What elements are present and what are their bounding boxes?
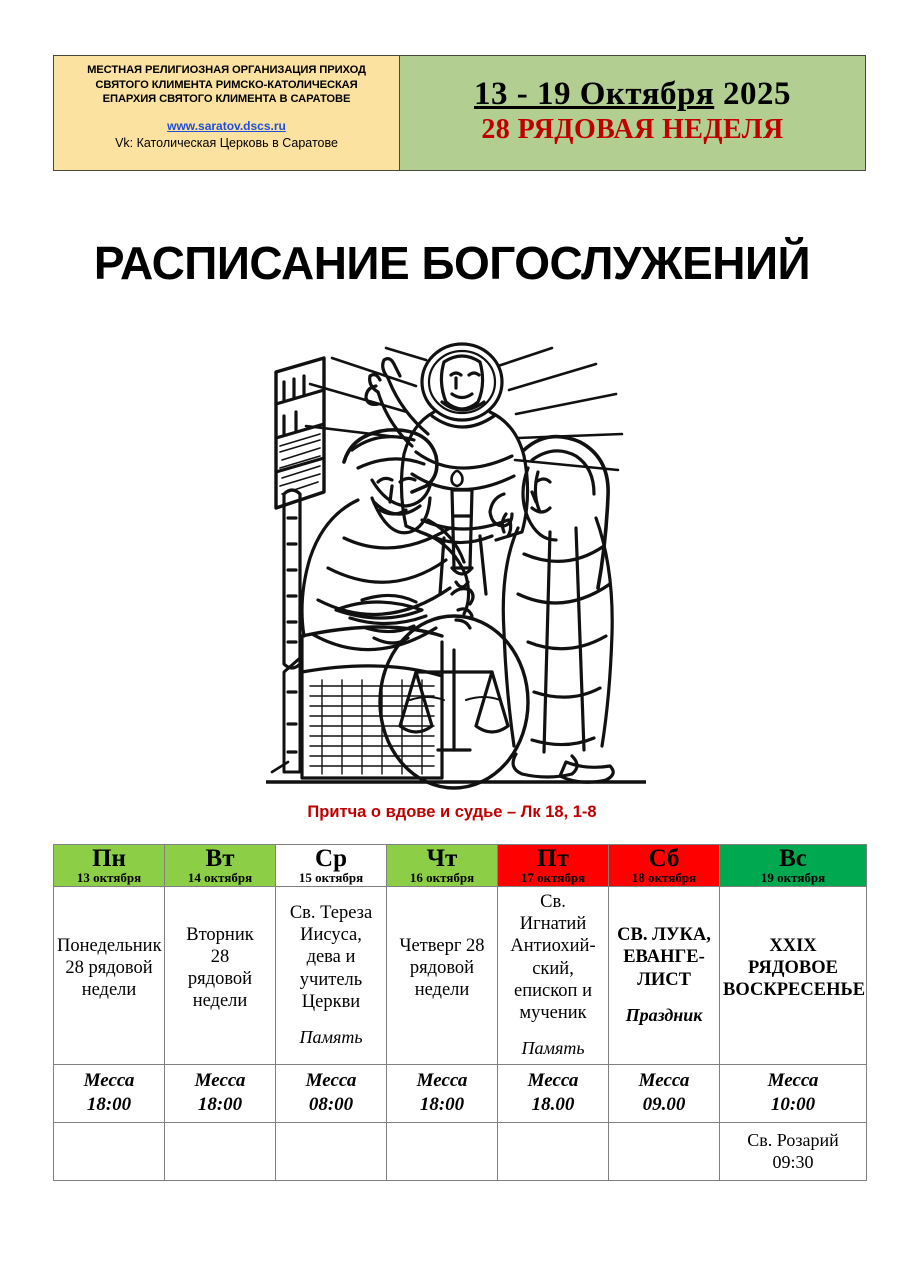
table-header-row: Пн 13 октября Вт 14 октября Ср 15 октябр… <box>54 845 867 887</box>
feast-rank: Память <box>279 1027 383 1049</box>
feast-cell-wednesday: Св. ТерезаИисуса,дева иучительЦеркви Пам… <box>276 886 387 1064</box>
extra-cell-tuesday <box>165 1122 276 1180</box>
extra-cell-thursday <box>387 1122 498 1180</box>
mass-time: 08:00 <box>279 1093 383 1117</box>
mass-time: 18:00 <box>57 1093 161 1117</box>
mass-cell-monday: Месса 18:00 <box>54 1064 165 1122</box>
extra-time: 09:30 <box>723 1151 863 1174</box>
mass-label: Месса <box>501 1069 605 1093</box>
mass-label: Месса <box>57 1069 161 1093</box>
organization-line-1: МЕСТНАЯ РЕЛИГИОЗНАЯ ОРГАНИЗАЦИЯ ПРИХОД <box>87 63 366 78</box>
feast-text: Четверг 28рядовойнедели <box>390 935 494 1002</box>
judge-chair <box>284 490 300 772</box>
mass-time: 18:00 <box>168 1093 272 1117</box>
day-date: 18 октября <box>609 871 719 886</box>
mass-cell-wednesday: Месса 08:00 <box>276 1064 387 1122</box>
feast-cell-saturday: СВ. ЛУКА,ЕВАНГЕ-ЛИСТ Праздник <box>609 886 720 1064</box>
day-header-tuesday: Вт 14 октября <box>165 845 276 887</box>
feast-text: Вторник28рядовойнедели <box>168 924 272 1013</box>
day-date: 19 октября <box>720 871 866 886</box>
page-title: РАСПИСАНИЕ БОГОСЛУЖЕНИЙ <box>0 236 904 290</box>
christ-figure <box>366 344 528 594</box>
mass-cell-saturday: Месса 09.00 <box>609 1064 720 1122</box>
header-banner: МЕСТНАЯ РЕЛИГИОЗНАЯ ОРГАНИЗАЦИЯ ПРИХОД С… <box>53 55 866 171</box>
feast-text: Св. ТерезаИисуса,дева иучительЦеркви <box>279 902 383 1013</box>
widow-figure <box>490 437 613 783</box>
parable-widow-and-judge-illustration <box>266 342 646 794</box>
mass-time: 10:00 <box>723 1093 863 1117</box>
organization-line-2: СВЯТОГО КЛИМЕНТА РИМСКО-КАТОЛИЧЕСКАЯ <box>95 78 357 93</box>
extra-cell-wednesday <box>276 1122 387 1180</box>
day-abbrev: Сб <box>609 845 719 872</box>
illustration-caption: Притча о вдове и судье – Лк 18, 1-8 <box>0 803 904 822</box>
mass-row: Месса 18:00 Месса 18:00 Месса 08:00 Месс… <box>54 1064 867 1122</box>
period-box: 13 - 19 Октября 2025 28 РЯДОВАЯ НЕДЕЛЯ <box>400 55 866 171</box>
day-abbrev: Чт <box>387 845 497 872</box>
day-date: 14 октября <box>165 871 275 886</box>
schedule-table: Пн 13 октября Вт 14 октября Ср 15 октябр… <box>53 844 867 1181</box>
feast-rank: Праздник <box>612 1005 716 1027</box>
extra-cell-sunday: Св. Розарий 09:30 <box>720 1122 867 1180</box>
day-date: 13 октября <box>54 871 164 886</box>
feast-text: XXIXРЯДОВОЕВОСКРЕСЕНЬЕ <box>723 935 863 1002</box>
day-abbrev: Пн <box>54 845 164 872</box>
feast-cell-monday: Понедельник28 рядовойнедели <box>54 886 165 1064</box>
year-spacer <box>714 76 723 112</box>
mass-label: Месса <box>723 1069 863 1093</box>
feast-cell-sunday: XXIXРЯДОВОЕВОСКРЕСЕНЬЕ <box>720 886 867 1064</box>
feast-cell-friday: Св.ИгнатийАнтиохий-ский,епископ имученик… <box>498 886 609 1064</box>
day-abbrev: Вт <box>165 845 275 872</box>
feast-cell-tuesday: Вторник28рядовойнедели <box>165 886 276 1064</box>
mass-cell-friday: Месса 18.00 <box>498 1064 609 1122</box>
day-abbrev: Вс <box>720 845 866 872</box>
parish-website-link[interactable]: www.saratov.dscs.ru <box>167 119 286 133</box>
day-header-monday: Пн 13 октября <box>54 845 165 887</box>
feast-text: СВ. ЛУКА,ЕВАНГЕ-ЛИСТ <box>612 924 716 991</box>
extra-cell-monday <box>54 1122 165 1180</box>
feast-text: Понедельник28 рядовойнедели <box>57 935 161 1002</box>
mass-cell-tuesday: Месса 18:00 <box>165 1064 276 1122</box>
organization-box: МЕСТНАЯ РЕЛИГИОЗНАЯ ОРГАНИЗАЦИЯ ПРИХОД С… <box>53 55 400 171</box>
day-date: 17 октября <box>498 871 608 886</box>
organization-line-3: ЕПАРХИЯ СВЯТОГО КЛИМЕНТА В САРАТОВЕ <box>103 92 351 107</box>
day-date: 15 октября <box>276 871 386 886</box>
day-header-wednesday: Ср 15 октября <box>276 845 387 887</box>
extra-cell-friday <box>498 1122 609 1180</box>
mass-label: Месса <box>390 1069 494 1093</box>
day-header-saturday: Сб 18 октября <box>609 845 720 887</box>
feast-text: Св.ИгнатийАнтиохий-ский,епископ имученик <box>501 891 605 1024</box>
liturgical-week: 28 РЯДОВАЯ НЕДЕЛЯ <box>481 114 783 145</box>
feast-rank: Память <box>501 1038 605 1060</box>
day-header-friday: Пт 17 октября <box>498 845 609 887</box>
extra-service-row: Св. Розарий 09:30 <box>54 1122 867 1180</box>
mass-cell-sunday: Месса 10:00 <box>720 1064 867 1122</box>
mass-cell-thursday: Месса 18:00 <box>387 1064 498 1122</box>
bookshelf <box>276 358 324 508</box>
extra-label: Св. Розарий <box>723 1129 863 1152</box>
mass-label: Месса <box>168 1069 272 1093</box>
mass-time: 18.00 <box>501 1093 605 1117</box>
parish-vk-line: Vk: Католическая Церковь в Саратове <box>115 136 338 150</box>
feast-cell-thursday: Четверг 28рядовойнедели <box>387 886 498 1064</box>
date-range-line: 13 - 19 Октября 2025 <box>474 77 791 113</box>
year: 2025 <box>723 76 791 112</box>
mass-time: 09.00 <box>612 1093 716 1117</box>
mass-time: 18:00 <box>390 1093 494 1117</box>
mass-label: Месса <box>612 1069 716 1093</box>
date-range: 13 - 19 Октября <box>474 76 714 112</box>
day-header-sunday: Вс 19 октября <box>720 845 867 887</box>
mass-label: Месса <box>279 1069 383 1093</box>
day-date: 16 октября <box>387 871 497 886</box>
day-header-thursday: Чт 16 октября <box>387 845 498 887</box>
extra-cell-saturday <box>609 1122 720 1180</box>
day-abbrev: Ср <box>276 845 386 872</box>
feast-row: Понедельник28 рядовойнедели Вторник28ряд… <box>54 886 867 1064</box>
day-abbrev: Пт <box>498 845 608 872</box>
